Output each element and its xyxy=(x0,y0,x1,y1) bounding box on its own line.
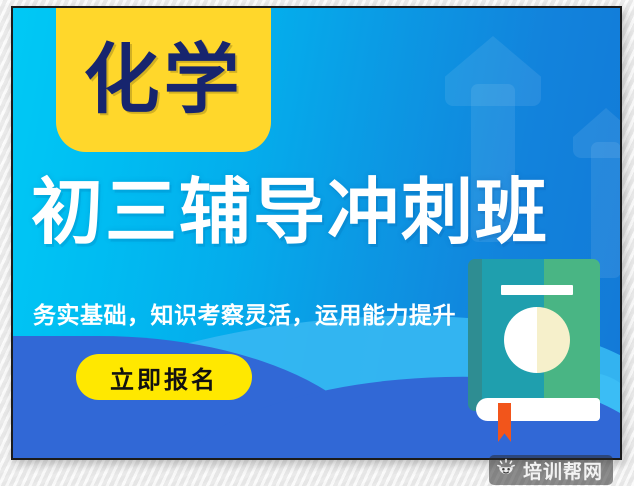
book-emblem-circle xyxy=(504,307,570,373)
enroll-now-label: 立即报名 xyxy=(110,360,218,395)
banner-subtitle: 务实基础，知识考察灵活，运用能力提升 xyxy=(33,296,456,330)
sun-smiley-icon xyxy=(496,458,516,483)
subject-chip: 化学 xyxy=(56,8,271,152)
enroll-now-button[interactable]: 立即报名 xyxy=(76,354,252,400)
page-root: 化学 初三辅导冲刺班 务实基础，知识考察灵活，运用能力提升 立即报名 xyxy=(0,0,634,486)
book-illustration xyxy=(468,259,605,435)
promo-banner[interactable]: 化学 初三辅导冲刺班 务实基础，知识考察灵活，运用能力提升 立即报名 xyxy=(11,6,622,460)
watermark: 培训帮网 xyxy=(489,455,613,485)
book-title-bar xyxy=(501,285,573,295)
book-pages xyxy=(476,398,600,421)
banner-headline: 初三辅导冲刺班 xyxy=(31,176,601,248)
subject-label: 化学 xyxy=(84,42,244,118)
watermark-text: 培训帮网 xyxy=(523,457,603,484)
